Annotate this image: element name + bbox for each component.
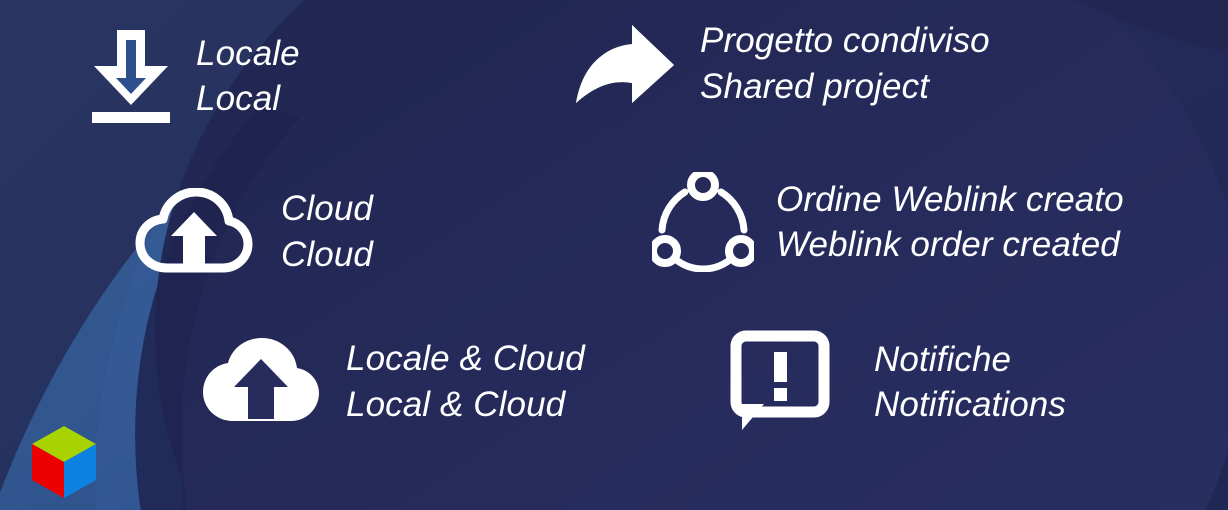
legend-label-it: Progetto condiviso (700, 18, 990, 64)
legend-label-en: Shared project (700, 64, 990, 110)
download-icon (88, 26, 174, 126)
legend-item-notifications-labels: Notifiche Notifications (874, 337, 1066, 428)
cloud-upload-outline-icon (135, 188, 253, 276)
legend-items: Locale Local Progetto condiviso Shared p… (0, 0, 1228, 510)
legend-item-local-and-cloud-labels: Locale & Cloud Local & Cloud (346, 336, 585, 427)
isometric-cube-logo[interactable] (28, 422, 100, 502)
legend-item-shared-project-labels: Progetto condiviso Shared project (700, 18, 990, 109)
legend-label-en: Notifications (874, 382, 1066, 428)
legend-label-en: Cloud (281, 232, 373, 278)
legend-label-it: Cloud (281, 186, 373, 232)
legend-item-local[interactable]: Locale Local (88, 26, 300, 126)
legend-item-cloud[interactable]: Cloud Cloud (135, 186, 373, 277)
legend-item-notifications[interactable]: Notifiche Notifications (730, 330, 1066, 434)
legend-canvas: Locale Local Progetto condiviso Shared p… (0, 0, 1228, 510)
legend-item-weblink-order[interactable]: Ordine Weblink creato Weblink order crea… (652, 172, 1124, 272)
legend-label-en: Local (196, 76, 300, 122)
legend-item-local-labels: Locale Local (196, 31, 300, 122)
speech-bubble-alert-icon (730, 330, 836, 434)
legend-label-it: Notifiche (874, 337, 1066, 383)
legend-label-en: Weblink order created (776, 222, 1124, 268)
legend-label-en: Local & Cloud (346, 382, 585, 428)
legend-item-cloud-labels: Cloud Cloud (281, 186, 373, 277)
legend-label-it: Locale & Cloud (346, 336, 585, 382)
legend-item-weblink-order-labels: Ordine Weblink creato Weblink order crea… (776, 177, 1124, 268)
legend-label-it: Locale (196, 31, 300, 77)
share-arrow-icon (570, 21, 678, 107)
share-nodes-icon (652, 172, 754, 272)
legend-label-it: Ordine Weblink creato (776, 177, 1124, 223)
legend-item-local-and-cloud[interactable]: Locale & Cloud Local & Cloud (200, 336, 585, 427)
cloud-upload-filled-icon (200, 337, 322, 427)
legend-item-shared-project[interactable]: Progetto condiviso Shared project (570, 18, 990, 109)
